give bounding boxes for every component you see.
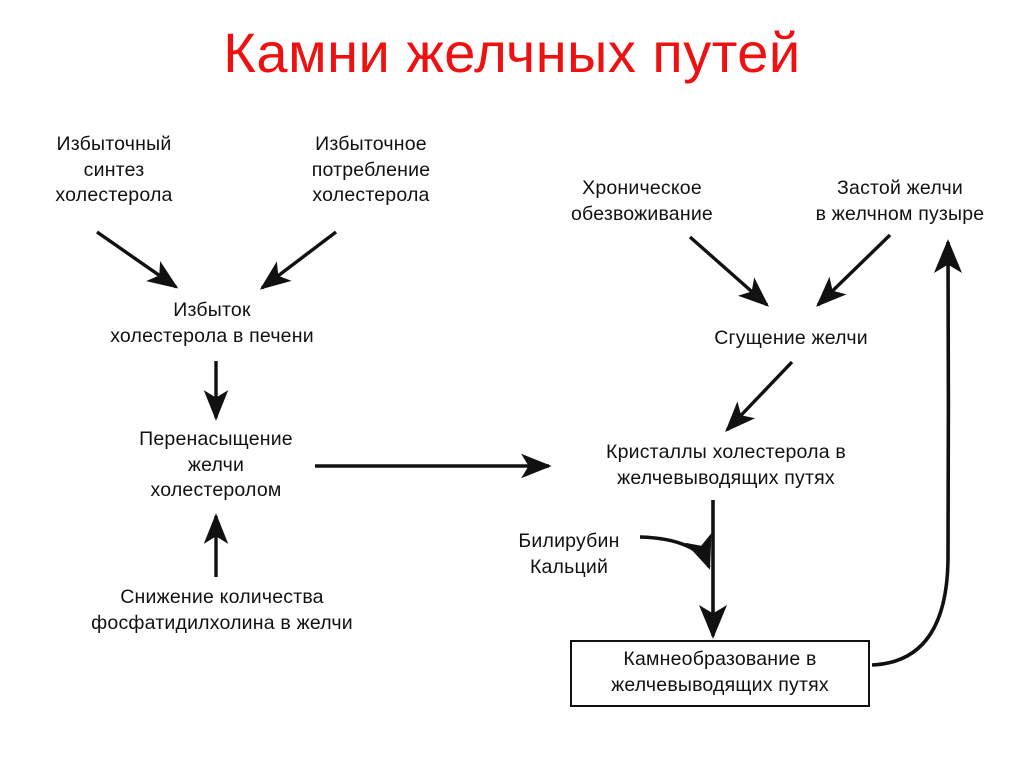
diagram-canvas: Камни желчных путей [0,0,1024,767]
edge-synthesis-to-liver [97,232,176,287]
node-phosphatidylcholine-decrease: Снижение количества фосфатидилхолина в ж… [42,585,402,636]
node-bilirubin-calcium: Билирубин Кальций [496,529,642,580]
arrow-layer [0,0,1024,767]
node-stone-formation: Камнеобразование в желчевыводящих путях [570,640,870,707]
edge-dehydration-to-thickening [690,237,767,305]
edge-bilirubin-to-stone-formation [640,537,709,567]
node-excess-cholesterol-synthesis: Избыточный синтез холестерола [14,132,214,209]
node-bile-supersaturation: Перенасыщение желчи холестеролом [110,427,322,504]
edge-thickening-to-crystals [727,362,792,430]
node-chronic-dehydration: Хроническое обезвоживание [546,176,738,227]
edge-stasis-to-thickening [818,235,890,305]
node-bile-stasis: Застой желчи в желчном пузыре [790,176,1010,227]
node-liver-cholesterol-excess: Избыток холестерола в печени [62,298,362,349]
node-bile-thickening: Сгущение желчи [666,326,916,352]
node-cholesterol-crystals: Кристаллы холестерола в желчевыводящих п… [556,440,896,491]
edge-intake-to-liver [262,232,336,288]
page-title: Камни желчных путей [0,22,1024,84]
node-excess-cholesterol-intake: Избыточное потребление холестерола [266,132,476,209]
